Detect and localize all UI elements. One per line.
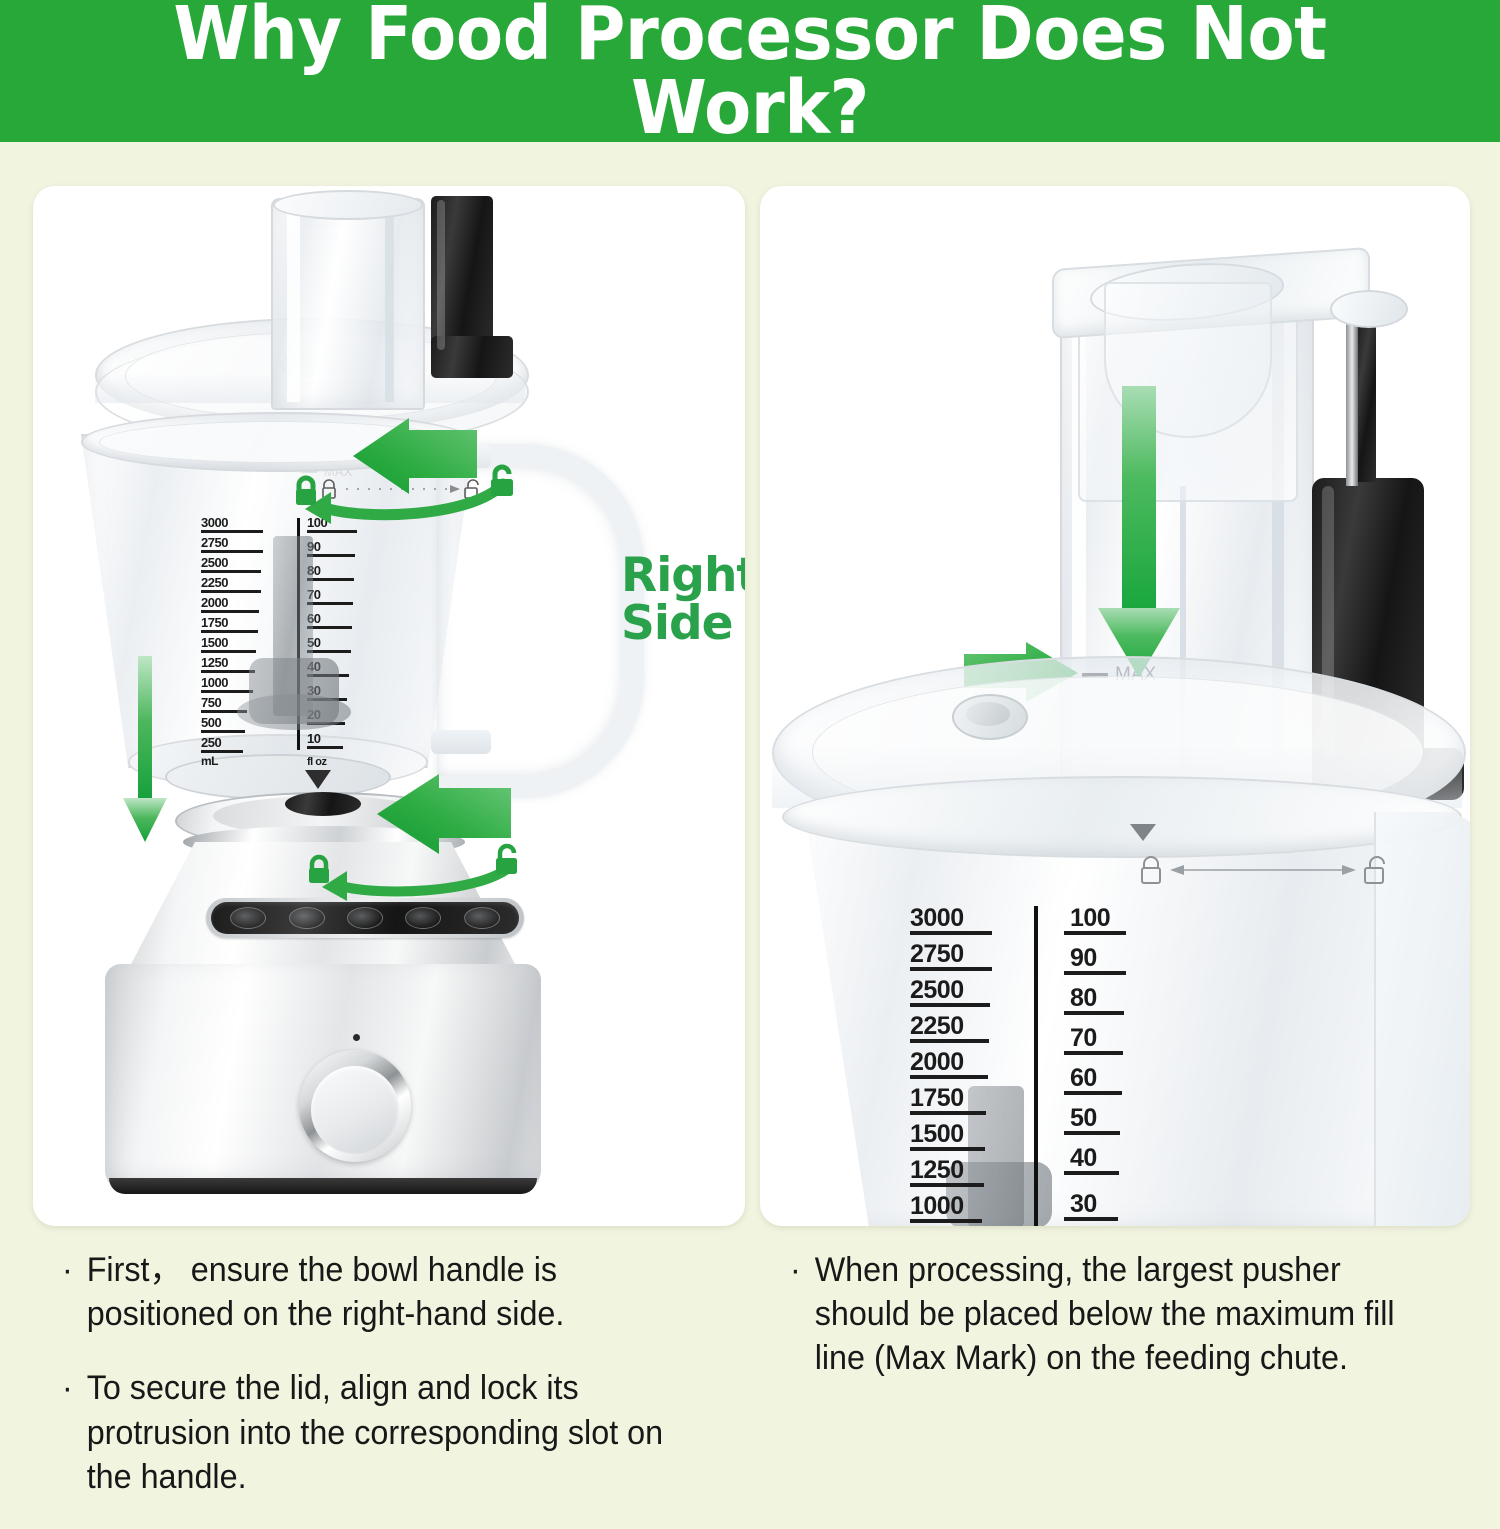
lock-closed-icon bbox=[1136, 852, 1166, 888]
lock-open-green-base-icon bbox=[491, 842, 521, 876]
scale-tick: 2250 bbox=[910, 1012, 989, 1043]
bowl-rim-right bbox=[782, 776, 1462, 858]
feeding-chute-highlight bbox=[287, 202, 300, 402]
scale-tick: 3000 bbox=[201, 514, 263, 533]
scale-tick: 50 bbox=[307, 634, 351, 653]
right-side-label-line2: Side bbox=[621, 600, 745, 648]
dough-button[interactable] bbox=[405, 907, 441, 929]
scale-tick: 80 bbox=[1056, 984, 1124, 1015]
motor-base-foot bbox=[109, 1178, 537, 1194]
scale-tick: 40 bbox=[1056, 1144, 1119, 1175]
right-side-label-line1: Right bbox=[621, 552, 745, 600]
page-title: Why Food Processor Does Not Work? bbox=[53, 0, 1448, 145]
scale-tick: 3000 bbox=[910, 904, 992, 935]
blade-base bbox=[237, 694, 351, 730]
scale-tick: 10 bbox=[307, 730, 343, 749]
caption-left: · First， ensure the bowl handle is posit… bbox=[62, 1248, 722, 1529]
chute-top-opening bbox=[273, 190, 423, 220]
scale-tick: 250 bbox=[201, 734, 243, 753]
scale-tick: 60 bbox=[307, 610, 352, 629]
scale-tick: 2500 bbox=[201, 554, 261, 573]
scale-tick: 1250 bbox=[910, 1156, 984, 1187]
bullet-marker: · bbox=[790, 1248, 815, 1381]
scale-tick: 1500 bbox=[910, 1120, 985, 1151]
bullet-text: When processing, the largest pusher shou… bbox=[815, 1248, 1436, 1381]
speed-dial-cap[interactable] bbox=[311, 1066, 399, 1154]
scale-tick: 2750 bbox=[201, 534, 263, 553]
pusher-rod-sleeve bbox=[1358, 314, 1376, 482]
feeding-chute-edge bbox=[385, 202, 394, 402]
scale-tick: 30 bbox=[1056, 1190, 1118, 1221]
scale-tick: 80 bbox=[307, 562, 354, 581]
scale-tick: 2000 bbox=[910, 1048, 988, 1079]
drive-socket bbox=[285, 792, 361, 816]
scale-tick: 90 bbox=[307, 538, 355, 557]
power-button[interactable] bbox=[464, 907, 500, 929]
lock-closed-green-base-icon bbox=[305, 854, 333, 886]
right-side-label: Right Side bbox=[621, 552, 745, 648]
arrow-down-chute-icon bbox=[1090, 386, 1190, 686]
scale-tick: 60 bbox=[1056, 1064, 1122, 1095]
arrow-down-left-icon bbox=[115, 656, 175, 846]
bullet-text: First， ensure the bowl handle is positio… bbox=[87, 1248, 689, 1336]
scale-tick: 2000 bbox=[201, 594, 259, 613]
bullet-marker: · bbox=[62, 1366, 87, 1499]
lock-bidirectional-arrow bbox=[1170, 860, 1356, 880]
list-item: · To secure the lid, align and lock its … bbox=[62, 1366, 689, 1499]
panel-assembly-diagram: MAX 3000 2750 2500 bbox=[33, 186, 745, 1226]
scale-tick: 100 bbox=[1056, 904, 1126, 935]
scale-tick: 1500 bbox=[201, 634, 256, 653]
scale-tick: 1000 bbox=[910, 1192, 982, 1223]
lock-open-icon bbox=[1360, 852, 1390, 888]
scale-tick: 90 bbox=[1056, 944, 1126, 975]
lock-open-green-icon bbox=[485, 462, 519, 500]
pusher-handle-shine bbox=[437, 200, 445, 350]
scale-tick: 2750 bbox=[910, 940, 992, 971]
lid-boss-right-hole bbox=[966, 702, 1010, 726]
header-banner: Why Food Processor Does Not Work? bbox=[0, 0, 1500, 142]
alignment-triangle-icon bbox=[305, 770, 331, 790]
pusher-metal-rod bbox=[1346, 306, 1358, 486]
lock-closed-green-icon bbox=[291, 474, 321, 508]
scale-tick: 1250 bbox=[201, 654, 255, 673]
bowl-lock-indicator-row-right bbox=[1136, 850, 1396, 890]
list-item: · First， ensure the bowl handle is posit… bbox=[62, 1248, 689, 1336]
bowl-handle-bottom-arm bbox=[431, 730, 491, 754]
scale-unit-ml: mL bbox=[201, 752, 218, 770]
scale-tick: 1000 bbox=[201, 674, 253, 693]
scale-tick: 2500 bbox=[910, 976, 990, 1007]
pusher-rod-knob bbox=[1330, 290, 1408, 328]
scale-tick: 70 bbox=[1056, 1024, 1123, 1055]
low-button[interactable] bbox=[289, 907, 325, 929]
list-item: · When processing, the largest pusher sh… bbox=[790, 1248, 1436, 1381]
scale-tick: 1750 bbox=[910, 1084, 986, 1115]
scale-tick: 70 bbox=[307, 586, 353, 605]
pulse-button[interactable] bbox=[230, 907, 266, 929]
bowl-measurement-scale-right: 3000 2750 2500 2250 2000 1750 1500 1250 … bbox=[910, 904, 1170, 1226]
control-panel-buttons bbox=[219, 906, 511, 930]
scale-tick: 2250 bbox=[201, 574, 261, 593]
scale-tick: 1750 bbox=[201, 614, 258, 633]
bullet-marker: · bbox=[62, 1248, 87, 1336]
scale-unit-oz: fl oz bbox=[307, 752, 327, 770]
high-button[interactable] bbox=[347, 907, 383, 929]
alignment-triangle-right-icon bbox=[1130, 824, 1156, 842]
scale-spine-right bbox=[1034, 906, 1038, 1226]
speed-dial-marker bbox=[353, 1034, 360, 1041]
panel-max-fill-diagram: MAX bbox=[760, 186, 1470, 1226]
caption-right: · When processing, the largest pusher sh… bbox=[790, 1248, 1470, 1411]
bullet-text: To secure the lid, align and lock its pr… bbox=[87, 1366, 689, 1499]
scale-tick: 50 bbox=[1056, 1104, 1120, 1135]
